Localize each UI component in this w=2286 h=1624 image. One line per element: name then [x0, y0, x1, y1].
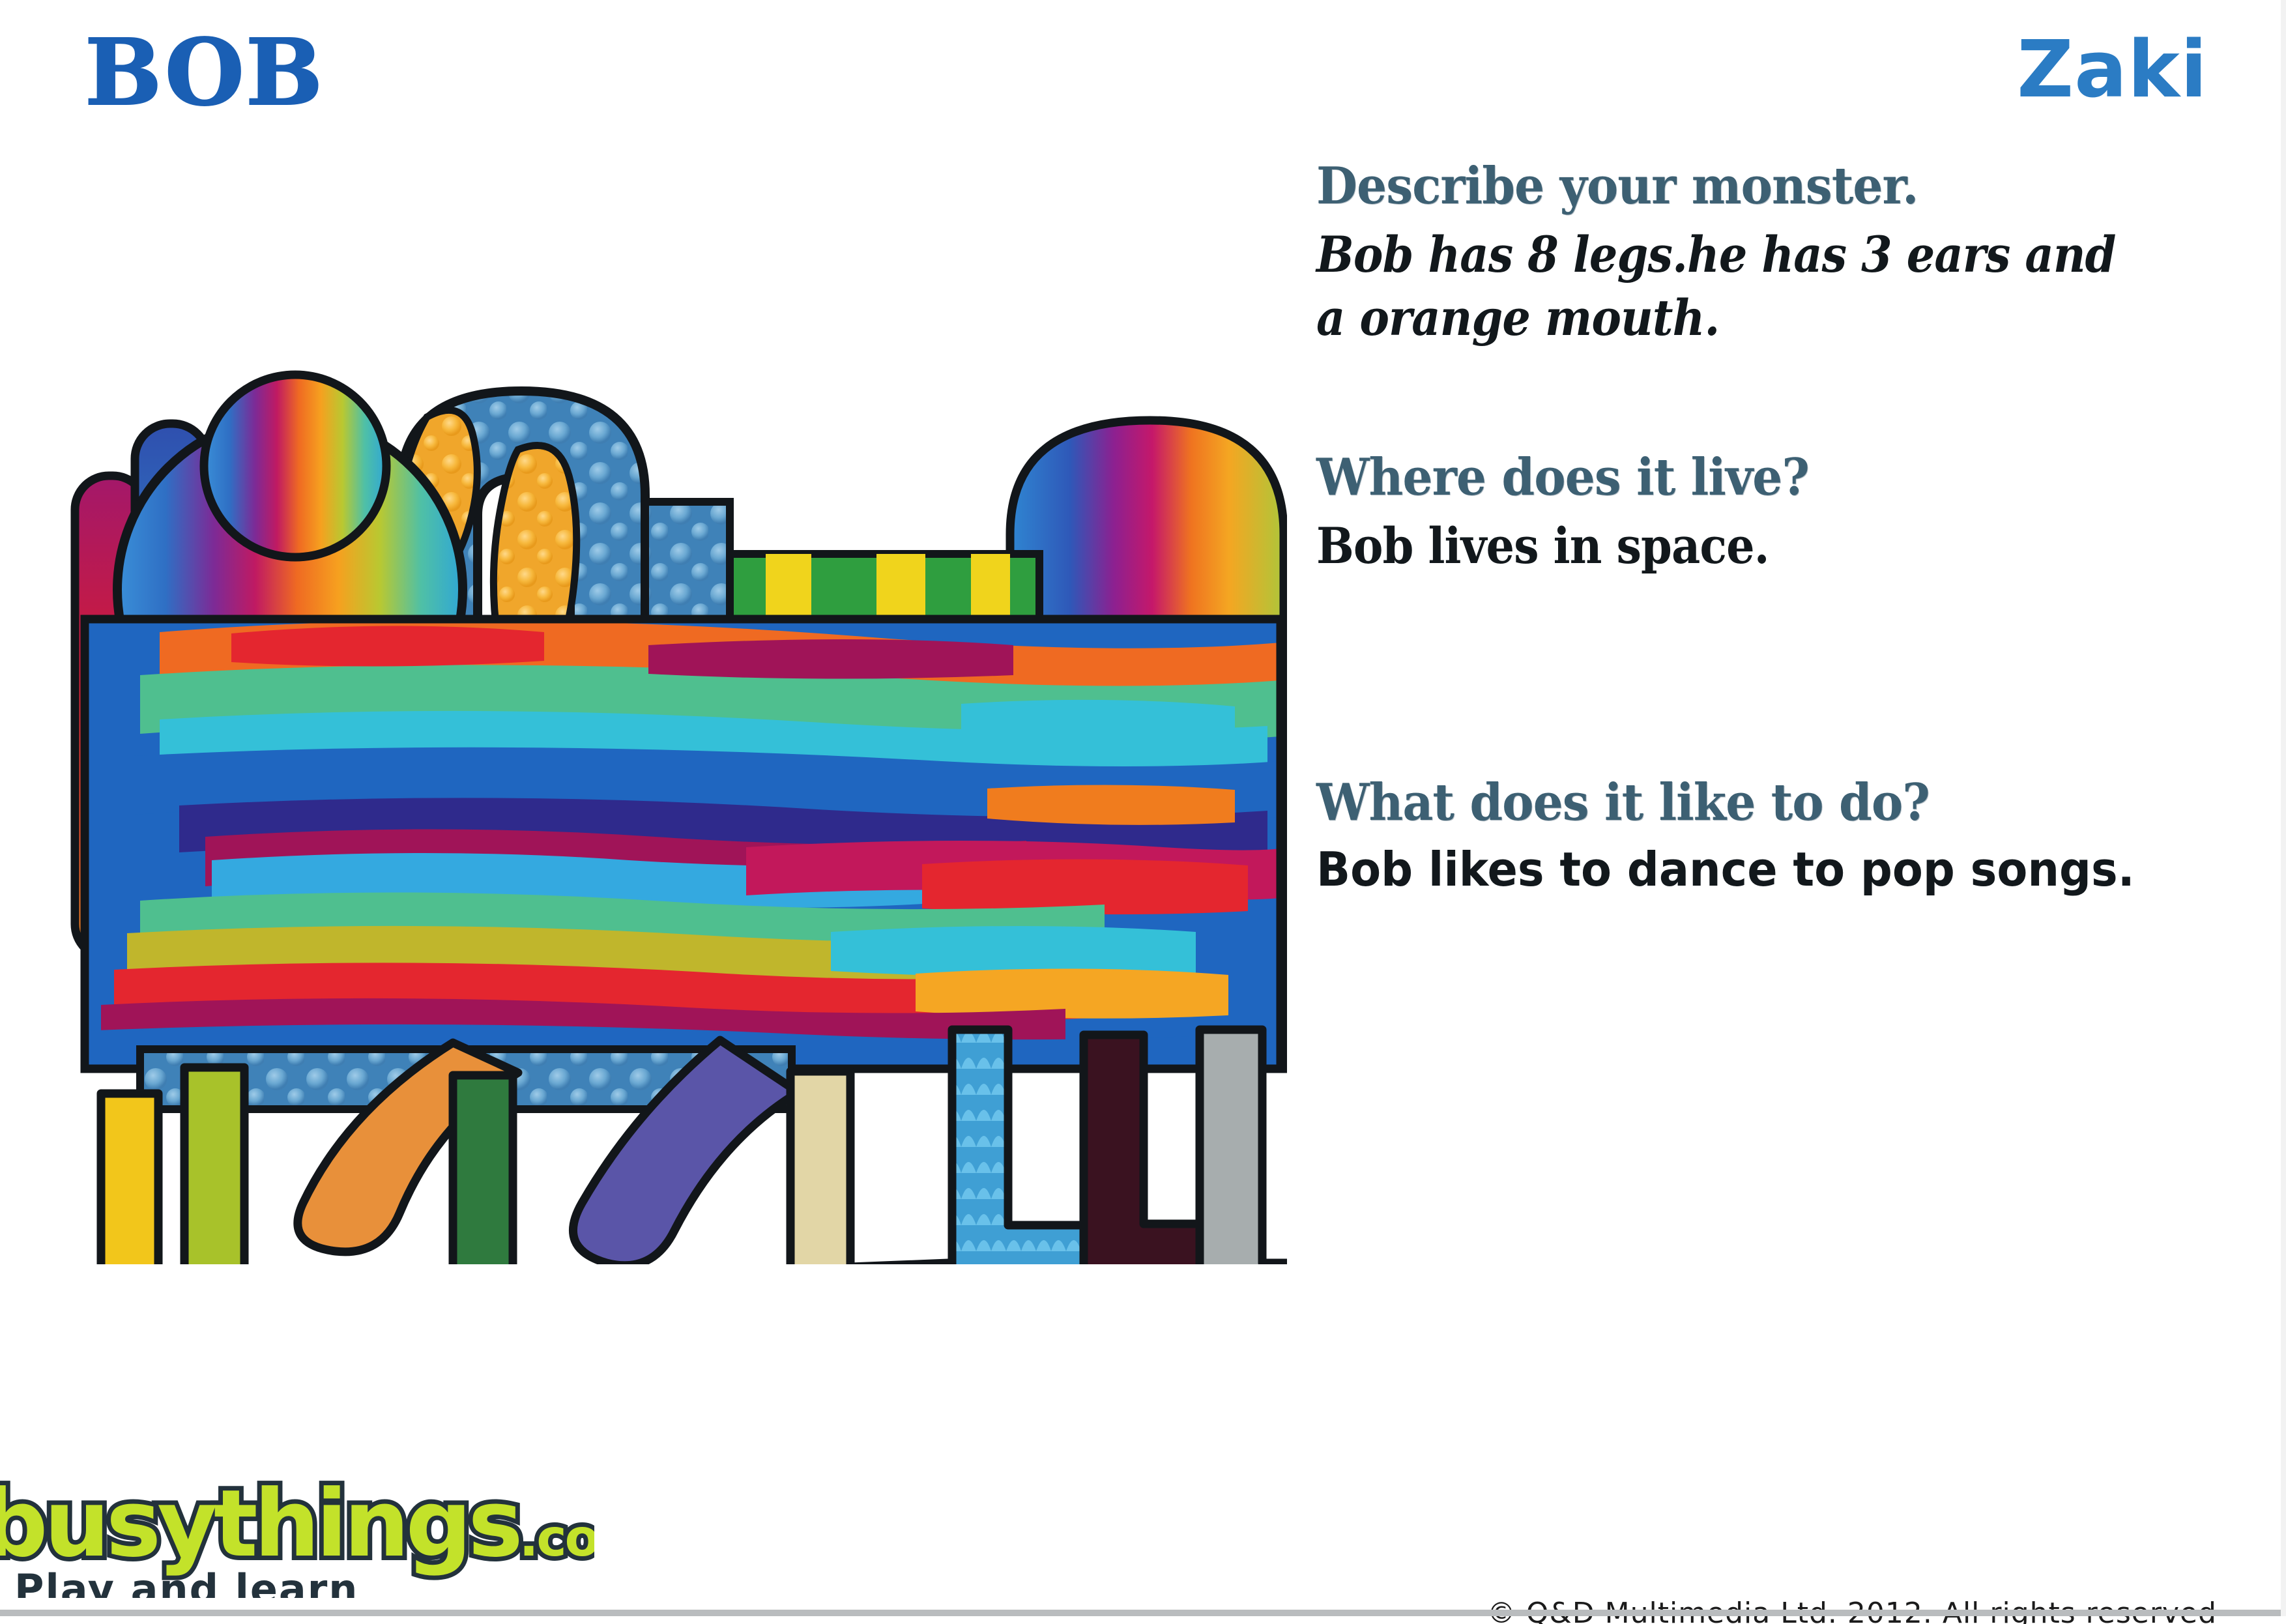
scan-bottom-edge: [0, 1610, 2286, 1616]
worksheet-page: BOB Zaki: [0, 0, 2286, 1616]
question-block-describe: Describe your monster. Bob has 8 legs.he…: [1316, 156, 2229, 350]
question-label-live: Where does it live?: [1316, 448, 2165, 508]
answer-text-live[interactable]: Bob lives in space.: [1316, 514, 2137, 577]
answer-text-like[interactable]: Bob likes to dance to pop songs.: [1316, 839, 2183, 899]
brand-tagline: Play and learn: [14, 1565, 358, 1598]
question-label-like: What does it like to do?: [1316, 773, 2165, 833]
spacer: [1316, 577, 2229, 773]
author-name: Zaki: [2017, 31, 2208, 109]
answer-text-describe[interactable]: Bob has 8 legs.he has 3 ears and a orang…: [1316, 223, 2137, 350]
question-block-live: Where does it live? Bob lives in space.: [1316, 448, 2229, 577]
page-title: BOB: [85, 27, 324, 119]
busythings-logo[interactable]: busythings.co.uk Play and learn: [0, 1468, 594, 1598]
monster-body: [81, 619, 1280, 1075]
scan-right-edge: [2281, 0, 2286, 1616]
brand-domain-text: .co.uk: [519, 1509, 594, 1568]
question-block-like: What does it like to do? Bob likes to da…: [1316, 773, 2229, 899]
worksheet-questions: Describe your monster. Bob has 8 legs.he…: [1316, 156, 2229, 899]
monster-drawing: [62, 339, 1287, 1264]
spacer: [1316, 350, 2229, 448]
brand-name-text: busythings: [0, 1470, 519, 1578]
brand-wordmark: busythings.co.uk: [0, 1470, 594, 1578]
question-label-describe: Describe your monster.: [1316, 156, 2165, 216]
leg-beige: [790, 1071, 948, 1264]
